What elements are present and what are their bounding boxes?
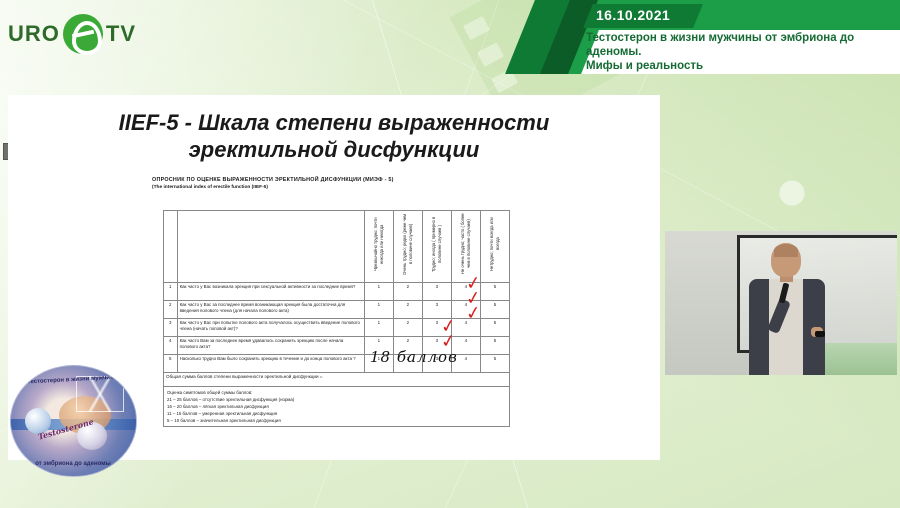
table-row[interactable]: 2 Как часто у Вас за последнее время воз… (164, 301, 510, 319)
legend-title: Оценка симптомов общей суммы баллов: (167, 389, 506, 396)
rating-header-3: Трудно; иногда ( примерно в половине слу… (431, 213, 443, 275)
checkmark-icon-row3: ✓ (465, 304, 482, 324)
table-header-row: Чрезвычайно трудно; почти никогда или ни… (164, 211, 510, 283)
logo-arc-bottom: от эмбриона до аденомы (23, 461, 123, 467)
rating-header-2: Очень трудно; редко (реже чем в половине… (402, 213, 414, 275)
header-cell-rating-1: Чрезвычайно трудно; почти никогда или ни… (364, 211, 393, 283)
legend-row: Оценка симптомов общей суммы баллов: 21 … (164, 387, 510, 427)
total-score-row: Общая сумма баллов степени выраженности … (164, 373, 510, 387)
row-score-5[interactable]: 5 (480, 283, 509, 301)
head (771, 243, 801, 277)
legend-item: 21 – 25 баллов – отсутствие эректильная … (167, 396, 506, 403)
row-question: Насколько трудно Вам было сохранить эрек… (177, 355, 364, 373)
row-score-1[interactable]: 1 (364, 319, 393, 337)
header-title-line1: Тестостерон в жизни мужчины от эмбриона … (586, 31, 886, 59)
speaker-video[interactable] (665, 231, 897, 375)
header-cell-rating-5: Нетрудно; почти всегда или всегда (480, 211, 509, 283)
conference-logo: Тестостерон в жизни мужчины Testosterone… (10, 365, 137, 477)
presenter-clicker (815, 331, 825, 337)
header-cell-num (164, 211, 178, 283)
row-question: Как часто у Вас возникала эрекция при се… (177, 283, 364, 301)
row-number: 4 (164, 337, 178, 355)
row-number: 3 (164, 319, 178, 337)
total-score-label: Общая сумма баллов степени выраженности … (164, 373, 510, 387)
row-score-5[interactable]: 5 (480, 355, 509, 373)
table-row[interactable]: 3 Как часто у Вас при попытке полового а… (164, 319, 510, 337)
rating-header-4: Не очень трудно; часто ( более чем в пол… (460, 213, 472, 275)
row-score-5[interactable]: 5 (480, 319, 509, 337)
iief5-table: Чрезвычайно трудно; почти никогда или ни… (163, 210, 510, 427)
row-score-2[interactable]: 2 (393, 301, 422, 319)
row-score-5[interactable]: 5 (480, 301, 509, 319)
row-score-1[interactable]: 1 (364, 283, 393, 301)
legend-item: 11 – 15 баллов – умеренная эректильная д… (167, 410, 506, 417)
legend-item: 5 – 10 баллов – значительная эректильная… (167, 417, 506, 424)
header-date: 16.10.2021 (596, 7, 670, 23)
row-number: 1 (164, 283, 178, 301)
legend-item: 16 – 20 баллов – лёгкая эректильная дисф… (167, 403, 506, 410)
handwritten-total: 18 баллов (370, 348, 458, 366)
page-title: IIEF-5 - Шкала степени выраженности эрек… (8, 109, 660, 163)
row-score-3[interactable]: 3 (422, 283, 451, 301)
row-score-1[interactable]: 1 (364, 301, 393, 319)
row-score-2[interactable]: 2 (393, 319, 422, 337)
uro-circle-e-icon (63, 14, 103, 54)
row-question: Как часто у Вас за последнее время возни… (177, 301, 364, 319)
questionnaire-heading: ОПРОСНИК ПО ОЦЕНКЕ ВЫРАЖЕННОСТИ ЭРЕКТИЛЬ… (152, 176, 512, 191)
rating-header-1: Чрезвычайно трудно; почти никогда или ни… (373, 213, 385, 275)
slide-title-line2: эректильной дисфункции (8, 136, 660, 163)
row-score-5[interactable]: 5 (480, 337, 509, 355)
header-cell-rating-2: Очень трудно; редко (реже чем в половине… (393, 211, 422, 283)
questionnaire-heading-en: (The international index of erectile fun… (152, 184, 512, 191)
row-question: Как часто у Вас при попытке полового акт… (177, 319, 364, 337)
row-number: 5 (164, 355, 178, 373)
rating-header-5: Нетрудно; почти всегда или всегда (489, 213, 501, 275)
header-title: Тестостерон в жизни мужчины от эмбриона … (586, 31, 886, 73)
header-cell-rating-3: Трудно; иногда ( примерно в половине слу… (422, 211, 451, 283)
slide-title-line1: IIEF-5 - Шкала степени выраженности (8, 109, 660, 136)
urotv-logo[interactable]: URO TV (8, 14, 136, 54)
row-question: Как часто Вам за последнее время удавало… (177, 337, 364, 355)
green-table (825, 343, 897, 375)
questionnaire-heading-ru: ОПРОСНИК ПО ОЦЕНКЕ ВЫРАЖЕННОСТИ ЭРЕКТИЛЬ… (152, 176, 512, 184)
table-row[interactable]: 1 Как часто у Вас возникала эрекция при … (164, 283, 510, 301)
row-score-2[interactable]: 2 (393, 283, 422, 301)
speaker-figure (743, 239, 833, 375)
logo-text-uro: URO (8, 21, 60, 47)
header-title-line2: Мифы и реальность (586, 59, 886, 73)
header-cell-question (177, 211, 364, 283)
row-number: 2 (164, 301, 178, 319)
logo-text-tv: TV (106, 21, 136, 47)
